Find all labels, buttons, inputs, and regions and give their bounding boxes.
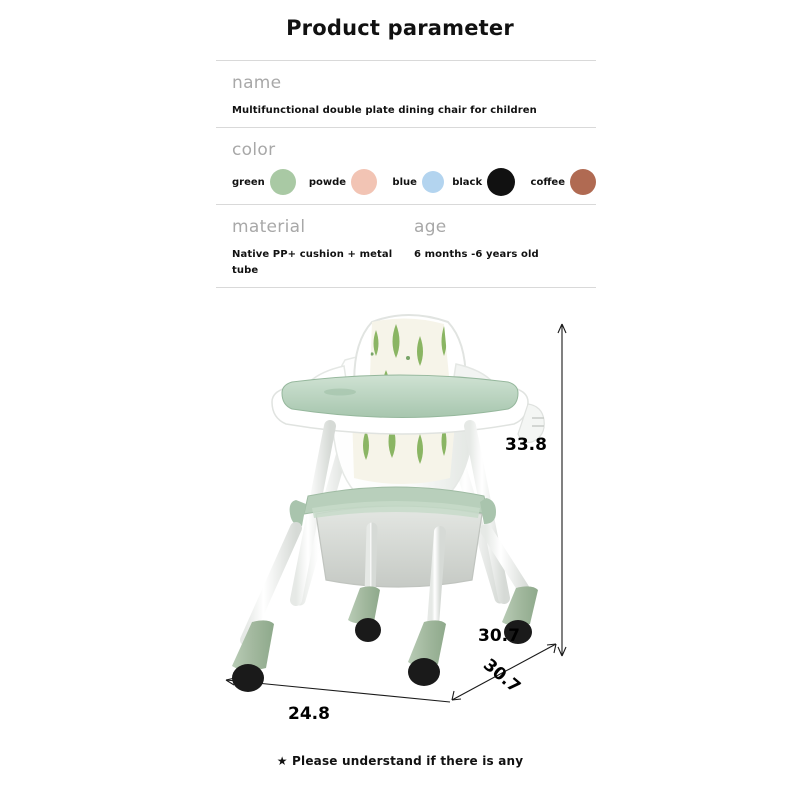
spec-row-name: name Multifunctional double plate dining… (216, 61, 596, 127)
color-swatch-list: green powde blue black (232, 168, 596, 196)
color-option-powder[interactable]: powde (309, 169, 377, 195)
spec-label-age: age (414, 215, 596, 239)
spec-col-material: material Native PP+ cushion + metal tube (232, 215, 414, 279)
footer-note: ★ Please understand if there is any (0, 754, 800, 768)
color-dot-black (487, 168, 515, 196)
spec-value-name: Multifunctional double plate dining chai… (232, 103, 596, 119)
spec-value-age: 6 months -6 years old (414, 247, 596, 263)
color-dot-blue (422, 171, 444, 193)
color-option-coffee[interactable]: coffee (531, 169, 596, 195)
color-name: green (232, 177, 265, 188)
storage-basket (290, 487, 496, 587)
spec-col-age: age 6 months -6 years old (414, 215, 596, 279)
product-image (0, 300, 800, 740)
divider (216, 287, 596, 288)
dimension-depth: 30.7 (478, 626, 520, 646)
color-dot-powder (351, 169, 377, 195)
wheel (355, 618, 381, 642)
dimension-height: 33.8 (505, 435, 547, 455)
color-name: powde (309, 177, 346, 188)
spec-row-color: color green powde blue (216, 128, 596, 204)
spec-row-material-age: material Native PP+ cushion + metal tube… (216, 205, 596, 287)
dimension-width: 24.8 (288, 704, 330, 724)
color-name: black (452, 177, 482, 188)
chair-tray (272, 375, 544, 442)
spec-label-color: color (232, 138, 596, 162)
wheel (232, 664, 264, 692)
spec-label-name: name (232, 71, 596, 95)
spec-value-material: Native PP+ cushion + metal tube (232, 247, 414, 279)
color-name: coffee (531, 177, 565, 188)
color-option-green[interactable]: green (232, 169, 296, 195)
product-parameter-page: Product parameter name Multifunctional d… (0, 0, 800, 800)
color-option-blue[interactable]: blue (392, 171, 444, 193)
spec-label-material: material (232, 215, 414, 239)
page-title: Product parameter (0, 16, 800, 40)
color-dot-coffee (570, 169, 596, 195)
color-option-black[interactable]: black (452, 168, 515, 196)
wheel (408, 658, 440, 686)
color-name: blue (392, 177, 417, 188)
color-dot-green (270, 169, 296, 195)
spec-table: name Multifunctional double plate dining… (216, 60, 596, 288)
